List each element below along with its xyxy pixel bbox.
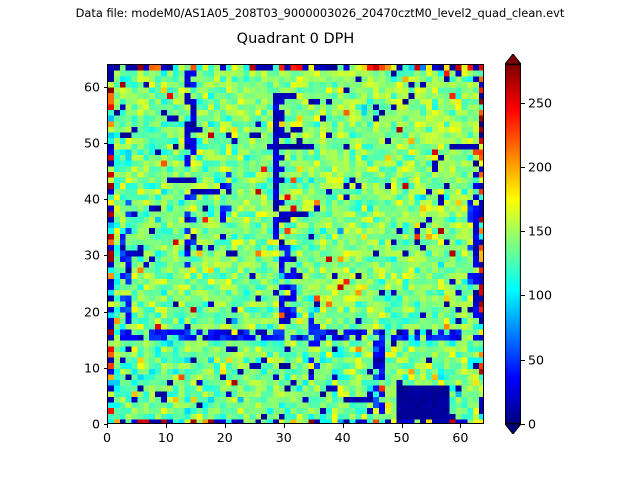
y-tick-mark — [104, 143, 108, 144]
x-tick-label: 60 — [452, 430, 468, 445]
heatmap-axes[interactable] — [107, 64, 484, 424]
x-tick-mark — [225, 424, 226, 428]
colorbar-extend-min-arrow — [505, 424, 521, 434]
matplotlib-figure: Data file: modeM0/AS1A05_208T03_90000030… — [0, 0, 640, 480]
x-tick-label: 40 — [335, 430, 351, 445]
heatmap-image[interactable] — [108, 65, 484, 424]
colorbar-tick-label: 0 — [528, 417, 536, 432]
y-tick-label: 30 — [84, 248, 100, 263]
page-title: Quadrant 0 DPH — [107, 31, 484, 47]
y-tick-label: 50 — [84, 135, 100, 150]
x-tick-mark — [460, 424, 461, 428]
y-tick-label: 0 — [92, 417, 100, 432]
colorbar-tick-label: 50 — [528, 352, 544, 367]
colorbar-tick-label: 250 — [528, 95, 552, 110]
y-tick-mark — [104, 87, 108, 88]
y-tick-mark — [104, 312, 108, 313]
y-tick-label: 60 — [84, 79, 100, 94]
y-tick-mark — [104, 255, 108, 256]
x-tick-mark — [343, 424, 344, 428]
x-tick-mark — [284, 424, 285, 428]
x-tick-mark — [107, 424, 108, 428]
colorbar-tick-label: 100 — [528, 288, 552, 303]
x-tick-label: 50 — [394, 430, 410, 445]
colorbar-tick-mark — [521, 103, 525, 104]
y-tick-label: 20 — [84, 304, 100, 319]
colorbar-tick-mark — [521, 424, 525, 425]
y-tick-mark — [104, 199, 108, 200]
colorbar-gradient[interactable] — [505, 64, 521, 424]
x-tick-label: 20 — [217, 430, 233, 445]
y-tick-mark — [104, 368, 108, 369]
y-tick-mark — [104, 424, 108, 425]
x-tick-mark — [166, 424, 167, 428]
colorbar-tick-label: 150 — [528, 224, 552, 239]
colorbar-tick-mark — [521, 167, 525, 168]
x-tick-mark — [402, 424, 403, 428]
colorbar-tick-label: 200 — [528, 159, 552, 174]
colorbar[interactable] — [505, 64, 521, 424]
x-tick-label: 10 — [158, 430, 174, 445]
y-tick-label: 10 — [84, 360, 100, 375]
x-tick-label: 30 — [276, 430, 292, 445]
colorbar-tick-mark — [521, 231, 525, 232]
x-tick-label: 0 — [103, 430, 111, 445]
colorbar-tick-mark — [521, 360, 525, 361]
colorbar-tick-mark — [521, 295, 525, 296]
y-tick-label: 40 — [84, 192, 100, 207]
colorbar-extend-max-arrow — [505, 54, 521, 64]
data-file-suptitle: Data file: modeM0/AS1A05_208T03_90000030… — [0, 6, 640, 20]
